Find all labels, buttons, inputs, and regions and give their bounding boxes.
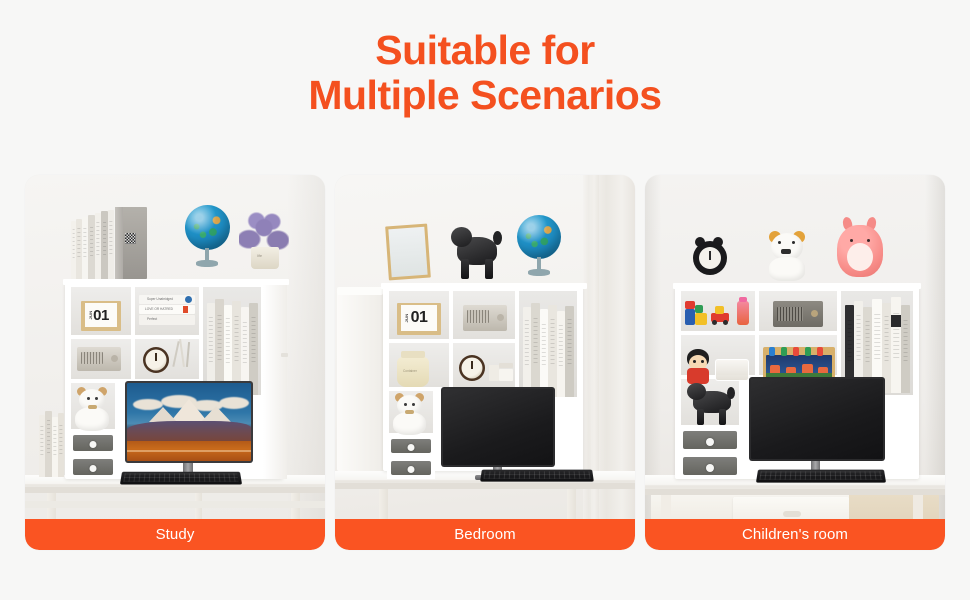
dog-leg-front	[461, 259, 469, 279]
radio-grille	[467, 310, 489, 323]
glass-jar-lid	[401, 351, 425, 358]
toy-radio-grille	[777, 307, 803, 321]
globe-base	[196, 260, 218, 267]
children-room-scene-photo	[645, 175, 945, 550]
white-bear-eye-left	[778, 241, 781, 244]
desk-stretcher	[25, 501, 325, 508]
study-scene-photo: life 01 JUN Super Unabridged LOVE OR HAT…	[25, 175, 325, 550]
flip-calendar-month: JUN	[88, 311, 93, 320]
fabric-drawer-lower[interactable]	[387, 457, 435, 479]
clock-hand	[471, 361, 473, 369]
shelf-book-2-tab	[183, 306, 188, 313]
toy-bottle-4	[805, 347, 811, 356]
shelf-book-1-emblem	[185, 296, 192, 303]
bear-eye-left	[404, 403, 407, 406]
toy-bottle-5	[817, 347, 823, 356]
white-bear-body	[769, 257, 805, 281]
toy-radio-dial	[811, 310, 818, 317]
radio-grille	[81, 352, 103, 364]
page-title: Suitable for Multiple Scenarios	[0, 28, 970, 118]
picture-frame-image	[388, 227, 427, 277]
toy-bottle-2	[781, 347, 787, 356]
fabric-drawer-lower[interactable]	[679, 453, 741, 479]
tall-book-7	[901, 305, 910, 393]
storage-box-spine	[115, 207, 123, 279]
dog-head	[451, 227, 472, 247]
alarm-clock-hand	[709, 251, 711, 260]
pink-bottle	[737, 301, 749, 325]
qr-code-sticker	[125, 233, 136, 244]
monitor-children[interactable]	[749, 377, 885, 461]
toy-shelf-scene	[766, 355, 832, 379]
caption-bedroom-label: Bedroom	[454, 526, 516, 543]
hutch-right-panel	[263, 283, 287, 479]
toy-bottle-1	[769, 347, 775, 356]
side-cabinet-top	[337, 287, 383, 295]
dog-leg-front	[697, 409, 704, 425]
desk-drawer-handle[interactable]	[783, 511, 801, 517]
page-title-line-1: Suitable for	[0, 28, 970, 73]
side-cabinet	[337, 293, 383, 471]
caption-children-room: Children's room	[645, 519, 945, 550]
bear-eye-right	[95, 397, 98, 400]
small-box-1	[489, 365, 499, 381]
monitor-screen	[751, 379, 883, 459]
toy-car-top	[715, 306, 724, 314]
bear-body	[75, 407, 109, 431]
plush-eye-left	[850, 239, 853, 242]
scenario-card-bedroom[interactable]: 01 JUN Container	[335, 175, 635, 550]
page-title-line-2: Multiple Scenarios	[0, 73, 970, 118]
caption-study: Study	[25, 519, 325, 550]
wallpaper-highlight	[127, 450, 251, 452]
plant-pot	[251, 247, 279, 269]
white-bear-eye-right	[792, 241, 795, 244]
caption-children-room-label: Children's room	[742, 526, 848, 543]
scenario-infographic: Suitable for Multiple Scenarios	[0, 0, 970, 600]
tall-book-6-band	[891, 315, 901, 327]
jar-label: Container	[403, 369, 417, 373]
radio-dial	[111, 355, 118, 362]
toy-car-wheel-right	[723, 320, 728, 325]
dog-tail	[727, 387, 735, 399]
storage-basket	[715, 359, 749, 381]
doll-eye-right	[701, 360, 704, 363]
white-bear-muzzle	[781, 249, 791, 254]
toy-block-green	[695, 305, 703, 313]
toy-bottle-3	[793, 347, 799, 356]
bear-bowtie	[88, 405, 97, 409]
keyboard-children[interactable]	[756, 470, 886, 483]
scenario-card-row: life 01 JUN Super Unabridged LOVE OR HAT…	[25, 175, 945, 550]
bear-eye-right	[412, 403, 415, 406]
small-box-3	[499, 363, 513, 368]
globe-base	[528, 269, 550, 276]
keyboard-keys	[123, 473, 238, 481]
toy-car-wheel-left	[712, 320, 717, 325]
plush-eye-right	[867, 239, 870, 242]
fabric-drawer-upper[interactable]	[679, 427, 741, 453]
bear-bowtie	[405, 410, 414, 414]
wallpaper-peak-right	[201, 406, 231, 422]
toy-block-red	[685, 301, 695, 309]
fabric-drawer-upper[interactable]	[387, 435, 435, 457]
drawer-knob-upper[interactable]	[706, 438, 714, 446]
book-top-4	[88, 215, 95, 279]
keyboard-bedroom[interactable]	[480, 470, 594, 482]
small-box-2	[499, 369, 513, 381]
caption-study-label: Study	[156, 526, 195, 543]
drawer-knob-upper[interactable]	[90, 441, 97, 448]
toy-block-blue	[685, 309, 695, 325]
pink-bottle-cap	[739, 297, 747, 302]
globe-sphere	[517, 215, 561, 259]
dog-leg-back	[485, 259, 493, 279]
tall-book-3	[540, 309, 548, 397]
flip-calendar-month: JUN	[404, 314, 409, 323]
bedroom-scene-photo: 01 JUN Container	[335, 175, 635, 550]
scenario-card-children-room[interactable]: Children's room	[645, 175, 945, 550]
tall-book-4	[548, 305, 557, 397]
keyboard-keys	[484, 471, 591, 478]
drawer-knob-upper[interactable]	[408, 444, 415, 451]
curtain-fold	[583, 175, 599, 550]
desk-book-4	[58, 413, 64, 477]
keyboard-keys	[759, 471, 882, 479]
shelf-book-3-label: Perfect	[147, 317, 157, 321]
wallpaper-peak-left	[149, 407, 177, 422]
plush-belly	[847, 243, 873, 271]
bear-body	[393, 412, 426, 435]
drawer-knob-lower[interactable]	[706, 464, 714, 472]
tall-book-2	[531, 303, 540, 397]
tall-book-5	[557, 311, 565, 397]
doll-eye-left	[693, 360, 696, 363]
clock-hand	[155, 353, 157, 361]
fabric-drawer-upper[interactable]	[69, 431, 117, 455]
toy-block-yellow	[695, 313, 707, 325]
drawer-knob-lower[interactable]	[90, 465, 97, 472]
dog-tail	[493, 231, 502, 245]
fabric-drawer-lower[interactable]	[69, 455, 117, 479]
tall-book-6	[565, 306, 574, 397]
desk-book-2	[45, 411, 52, 477]
keyboard-study[interactable]	[120, 472, 242, 485]
shelf-book-2-label: LOVE OR HATRED	[145, 307, 173, 311]
monitor-screen	[127, 383, 251, 461]
picture-frame	[385, 224, 431, 281]
caption-bedroom: Bedroom	[335, 519, 635, 550]
book-top-7	[108, 210, 114, 279]
hutch-hinge	[281, 353, 288, 357]
dog-head	[687, 383, 706, 400]
scenario-card-study[interactable]: life 01 JUN Super Unabridged LOVE OR HAT…	[25, 175, 325, 550]
desk-edge	[25, 487, 325, 493]
tall-book-1	[523, 307, 531, 397]
monitor-bedroom[interactable]	[441, 387, 555, 467]
dog-leg-back	[719, 409, 726, 425]
bear-eye-left	[87, 397, 90, 400]
doll-body	[687, 368, 709, 384]
monitor-screen	[443, 389, 553, 465]
tall-book-6	[891, 297, 901, 393]
monitor-study[interactable]	[125, 381, 253, 463]
wallpaper-ridge	[127, 421, 251, 443]
radio-dial	[497, 314, 504, 321]
globe-sphere	[185, 205, 230, 250]
plant-pot-label: life	[257, 254, 262, 258]
book-top-6	[101, 211, 108, 279]
shelf-book-1-label: Super Unabridged	[147, 297, 173, 301]
drawer-knob-lower[interactable]	[408, 466, 415, 473]
